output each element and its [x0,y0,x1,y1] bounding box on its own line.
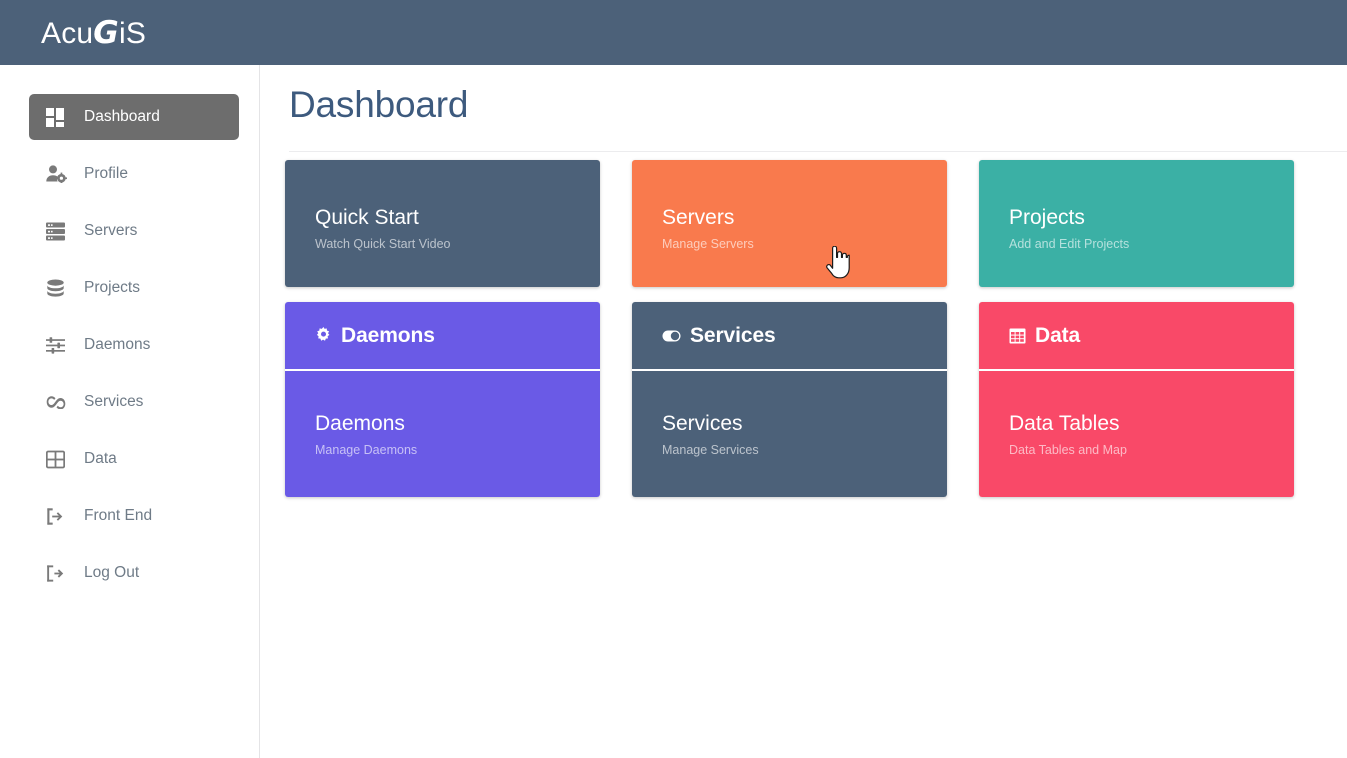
card-subtitle: Manage Servers [662,237,917,251]
data-card[interactable]: Data Data Tables Data Tables and Map [979,302,1294,497]
daemons-card-body: Daemons Manage Daemons [285,371,600,497]
infinity-icon [46,392,72,412]
card-subtitle: Manage Services [662,443,917,457]
sidebar-item-data[interactable]: Data [29,436,239,482]
sidebar-item-label: Servers [84,223,137,239]
services-card[interactable]: Services Services Manage Services [632,302,947,497]
card-row-2: Daemons Daemons Manage Daemons Services [285,302,1325,497]
sidebar-item-projects[interactable]: Projects [29,265,239,311]
sign-in-icon [46,506,72,526]
card-title: Daemons [315,413,570,435]
card-header-label: Services [690,324,776,348]
table-icon [1009,328,1026,344]
title-divider [289,151,1347,152]
projects-card[interactable]: Projects Add and Edit Projects [979,160,1294,287]
sidebar-item-label: Services [84,394,143,410]
services-card-body: Services Manage Services [632,371,947,497]
sidebar-item-services[interactable]: Services [29,379,239,425]
card-title: Services [662,413,917,435]
card-title: Quick Start [315,207,570,229]
card-subtitle: Data Tables and Map [1009,443,1264,457]
user-gear-icon [46,164,72,184]
sidebar-item-label: Daemons [84,337,150,353]
sign-out-icon [46,563,72,583]
brand-prefix: Acu [41,17,93,50]
card-cell-servers: Servers Manage Servers [632,160,947,287]
card-subtitle: Manage Daemons [315,443,570,457]
sidebar-item-label: Log Out [84,565,139,581]
server-icon [46,221,72,241]
sidebar-item-front-end[interactable]: Front End [29,493,239,539]
card-cell-quick-start: Quick Start Watch Quick Start Video [285,160,600,287]
card-subtitle: Add and Edit Projects [1009,237,1264,251]
dashboard-card-grid: Quick Start Watch Quick Start Video Serv… [285,160,1325,497]
daemons-card-header: Daemons [285,302,600,371]
card-cell-projects: Projects Add and Edit Projects [979,160,1294,287]
card-header-label: Data [1035,324,1080,348]
brand-logo[interactable]: AcuGiS [41,15,146,51]
card-cell-data: Data Data Tables Data Tables and Map [979,302,1294,497]
grid-icon [46,107,72,127]
quick-start-card[interactable]: Quick Start Watch Quick Start Video [285,160,600,287]
card-title: Data Tables [1009,413,1264,435]
sidebar-nav: Dashboard Profile Servers Projects Daemo… [0,65,260,758]
sliders-icon [46,335,72,355]
sidebar-item-label: Front End [84,508,152,524]
card-row-1: Quick Start Watch Quick Start Video Serv… [285,160,1325,287]
sidebar-item-dashboard[interactable]: Dashboard [29,94,239,140]
top-header-bar: AcuGiS [0,0,1347,65]
data-card-body: Data Tables Data Tables and Map [979,371,1294,497]
servers-card[interactable]: Servers Manage Servers [632,160,947,287]
daemons-card[interactable]: Daemons Daemons Manage Daemons [285,302,600,497]
main-content: Dashboard Quick Start Watch Quick Start … [260,65,1347,758]
sidebar-item-label: Dashboard [84,109,160,125]
page-title: Dashboard [289,84,468,126]
sidebar-item-servers[interactable]: Servers [29,208,239,254]
brand-suffix: iS [119,17,146,50]
card-subtitle: Watch Quick Start Video [315,237,570,251]
toggle-off-icon [662,330,681,342]
card-cell-daemons: Daemons Daemons Manage Daemons [285,302,600,497]
gear-icon [315,327,332,344]
sidebar-item-daemons[interactable]: Daemons [29,322,239,368]
card-title: Projects [1009,207,1264,229]
sidebar-item-label: Profile [84,166,128,182]
card-title: Servers [662,207,917,229]
brand-g-letter: G [93,15,119,51]
sidebar-item-label: Data [84,451,117,467]
services-card-header: Services [632,302,947,371]
card-cell-services: Services Services Manage Services [632,302,947,497]
sidebar-item-label: Projects [84,280,140,296]
data-card-header: Data [979,302,1294,371]
table-icon [46,449,72,469]
sidebar-item-log-out[interactable]: Log Out [29,550,239,596]
card-header-label: Daemons [341,324,435,348]
database-icon [46,278,72,298]
sidebar-item-profile[interactable]: Profile [29,151,239,197]
